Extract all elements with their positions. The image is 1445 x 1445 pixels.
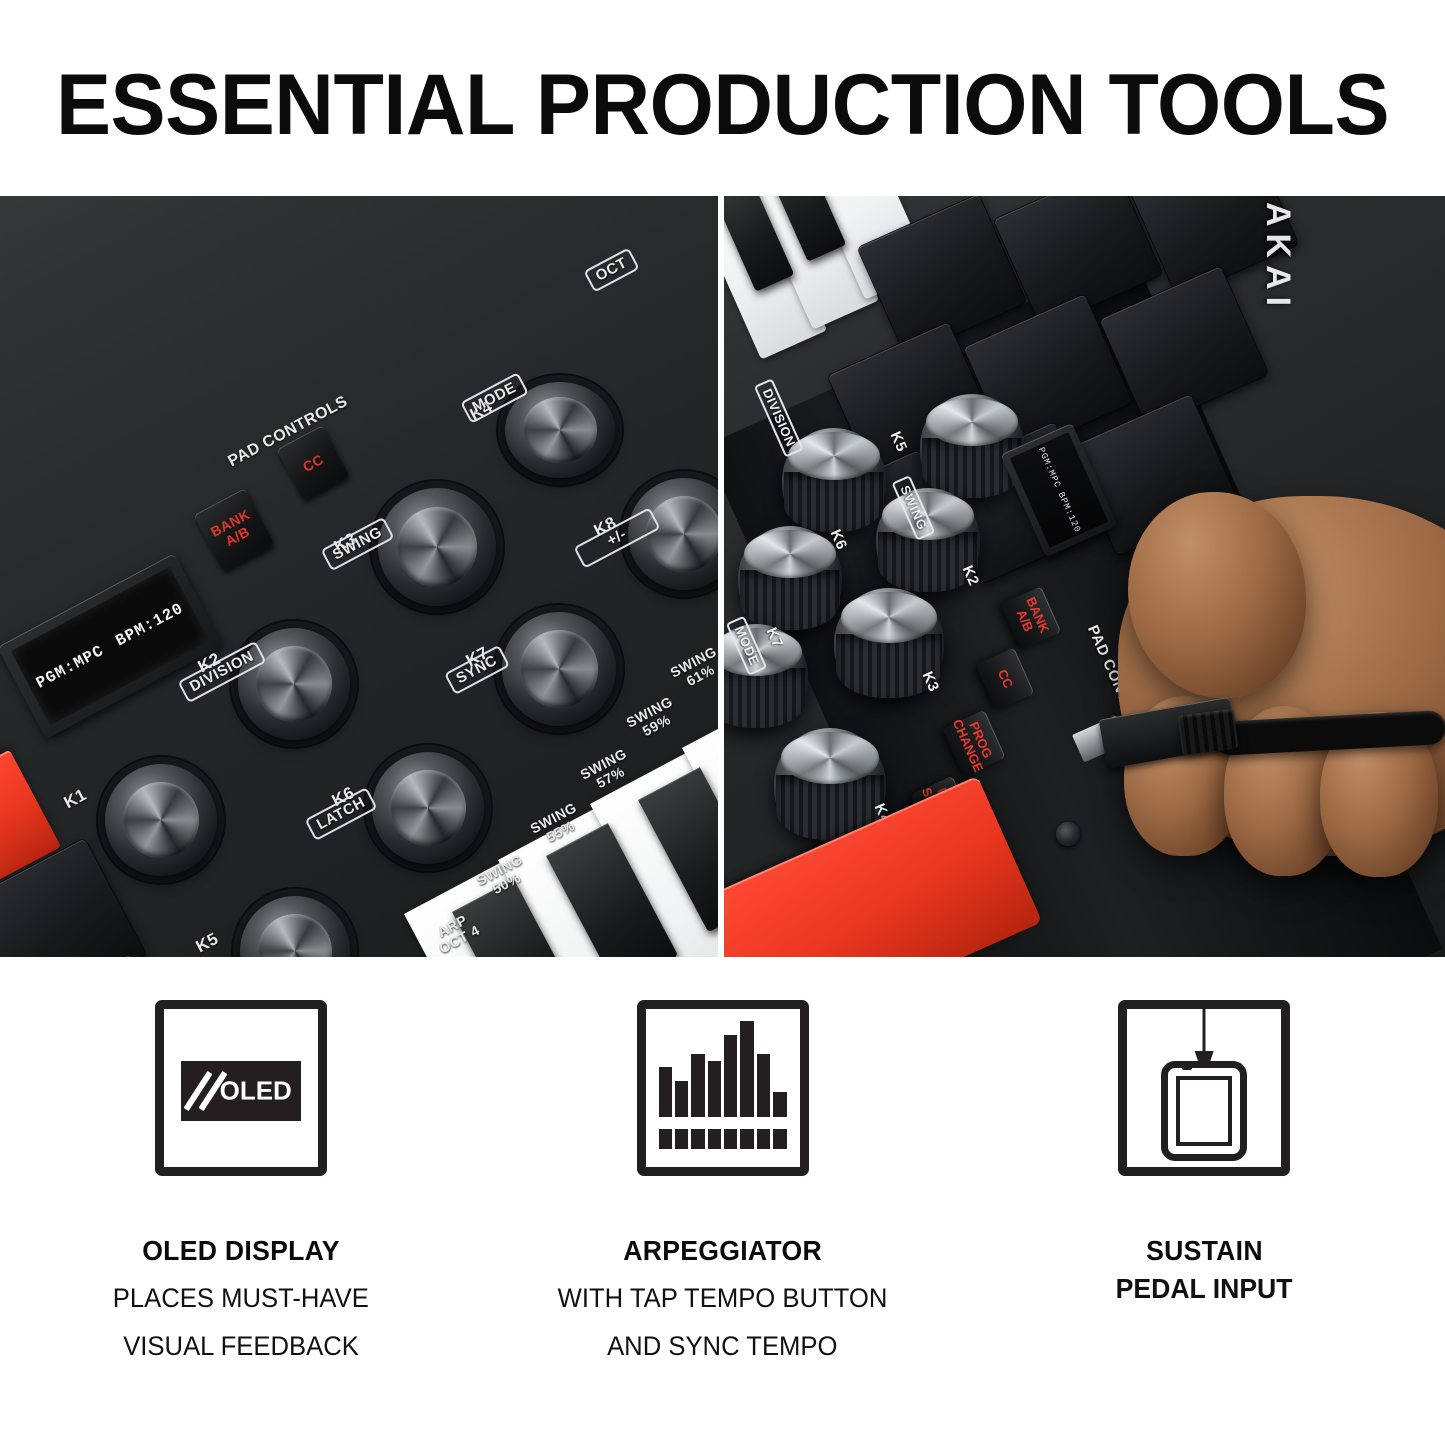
- equalizer-bar-group: [659, 1021, 787, 1117]
- feature-title: OLED DISPLAY: [142, 1232, 340, 1270]
- pedal-body-icon: [1161, 1061, 1247, 1161]
- equalizer-bar: [757, 1054, 770, 1117]
- knob-k6[interactable]: [372, 752, 484, 864]
- equalizer-block: [773, 1129, 786, 1149]
- division-label: DIVISION: [754, 378, 804, 457]
- equalizer-bar: [691, 1054, 704, 1117]
- equalizer-bars-icon: [637, 1000, 809, 1176]
- oled-display: PGM:MPC BPM:120: [0, 553, 223, 739]
- bank-ab-button[interactable]: BANK A/B: [193, 488, 274, 572]
- knob-k3[interactable]: [378, 488, 496, 606]
- feature-title: SUSTAIN: [1146, 1232, 1263, 1270]
- oled-screen-icon: OLED: [155, 1000, 327, 1176]
- infographic-page: ESSENTIAL PRODUCTION TOOLS PGM:MPC BPM:1…: [0, 0, 1445, 1445]
- cable-strain-relief: [1178, 709, 1238, 756]
- equalizer-block: [740, 1129, 753, 1149]
- knob-label-k1: K1: [61, 786, 89, 812]
- cc-button[interactable]: CC: [976, 648, 1035, 711]
- equalizer-bar: [675, 1081, 688, 1117]
- right-photo-controls-layer: K5 K1 K6 K2 K7 K3 K4 DIVISION SWING MODE…: [724, 196, 1445, 957]
- equalizer-block-row: [659, 1129, 787, 1149]
- akai-brand-logo: AKAI: [1258, 202, 1297, 313]
- oled-bpm-text: BPM:120: [1055, 490, 1082, 534]
- equalizer-block: [708, 1129, 721, 1149]
- oct-label: OCT: [583, 247, 639, 292]
- sustain-pedal-icon: [1118, 1000, 1290, 1176]
- photo-right-usb-connection: K5 K1 K6 K2 K7 K3 K4 DIVISION SWING MODE…: [724, 196, 1445, 957]
- knob-k1[interactable]: [105, 764, 217, 876]
- feature-subtitle-line-1: PLACES MUST-HAVE: [113, 1278, 369, 1319]
- feature-subtitle-line-2: VISUAL FEEDBACK: [123, 1326, 359, 1367]
- feature-row: OLED OLED DISPLAY PLACES MUST-HAVE VISUA…: [0, 1000, 1445, 1430]
- oled-bpm-text: BPM:120: [113, 600, 187, 651]
- key-legend-swing-61: SWING 61%: [668, 644, 718, 693]
- controller-controls-layer: PGM:MPC BPM:120 BANK A/B CC PAD CONTROLS: [0, 196, 718, 957]
- photo-strip: PGM:MPC BPM:120 BANK A/B CC PAD CONTROLS: [0, 196, 1445, 957]
- equalizer-bar: [773, 1092, 786, 1117]
- oct-label: OCT: [724, 771, 725, 820]
- key-legend-swing-59: SWING 59%: [624, 694, 682, 743]
- equalizer-block: [675, 1129, 688, 1149]
- equalizer-bar: [708, 1061, 721, 1117]
- prog-change-button[interactable]: PROG CHANGE: [942, 710, 1005, 776]
- equalizer-bar: [659, 1067, 672, 1117]
- equalizer-graphic: [659, 1021, 787, 1149]
- feature-title: ARPEGGIATOR: [623, 1232, 822, 1270]
- feature-subtitle-line-2: AND SYNC TEMPO: [607, 1326, 837, 1367]
- oled-screen: PGM:MPC BPM:120: [11, 567, 209, 726]
- equalizer-block: [724, 1129, 737, 1149]
- knob-k1[interactable]: [920, 394, 1024, 498]
- feature-subtitle-line-1: WITH TAP TEMPO BUTTON: [558, 1278, 888, 1319]
- pedal-graphic: [1127, 1009, 1281, 1167]
- bank-ab-button[interactable]: BANK A/B: [1001, 586, 1062, 650]
- pedal-nub-icon: [1182, 1062, 1192, 1070]
- feature-arpeggiator: ARPEGGIATOR WITH TAP TEMPO BUTTON AND SY…: [482, 1000, 964, 1430]
- equalizer-block: [691, 1129, 704, 1149]
- sustain-pedal-jack: [1056, 822, 1080, 846]
- equalizer-block: [659, 1129, 672, 1149]
- photo-left-mpk-panel: PGM:MPC BPM:120 BANK A/B CC PAD CONTROLS: [0, 196, 718, 957]
- oled-pgm-text: PGM:MPC: [33, 642, 107, 693]
- feature-oled-display: OLED OLED DISPLAY PLACES MUST-HAVE VISUA…: [0, 1000, 482, 1430]
- feature-sustain-pedal-input: SUSTAIN PEDAL INPUT: [963, 1000, 1445, 1430]
- page-title: ESSENTIAL PRODUCTION TOOLS: [29, 56, 1416, 155]
- knob-k5[interactable]: [240, 896, 350, 957]
- feature-subtitle-line-1: PEDAL INPUT: [1116, 1270, 1293, 1308]
- pedal-cable-icon: [1203, 1009, 1206, 1055]
- oled-icon-label: OLED: [220, 1076, 292, 1107]
- oled-pgm-text: PGM:MPC: [1036, 446, 1063, 490]
- knob-k7[interactable]: [502, 612, 616, 726]
- oled-icon-screen: OLED: [181, 1061, 301, 1121]
- pedal-inner-plate-icon: [1176, 1076, 1232, 1146]
- equalizer-bar: [724, 1035, 737, 1117]
- equalizer-bar: [740, 1021, 753, 1117]
- equalizer-block: [757, 1129, 770, 1149]
- knob-k6[interactable]: [738, 526, 842, 630]
- knob-label-k5: K5: [193, 930, 221, 956]
